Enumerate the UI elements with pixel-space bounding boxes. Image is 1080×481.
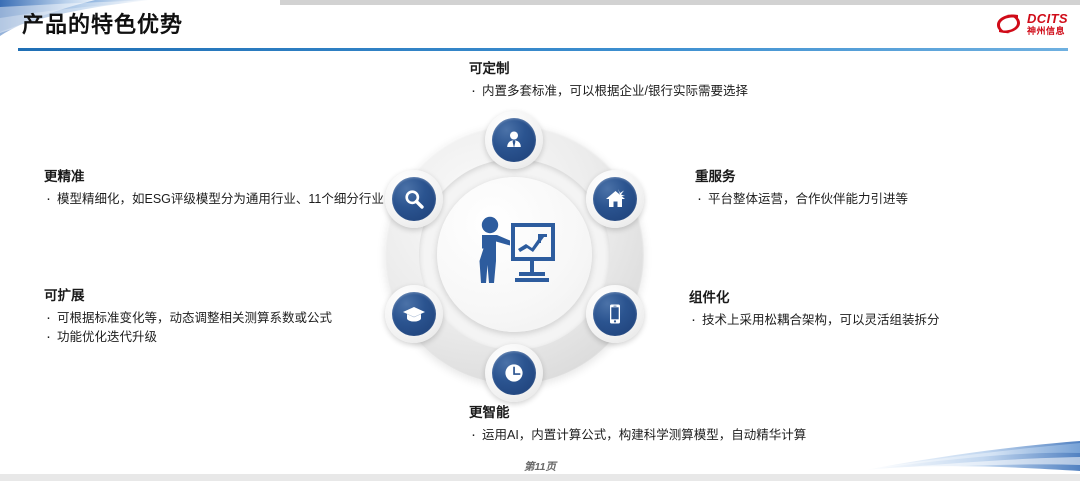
feature-bullet: 模型精细化，如ESG评级模型分为通用行业、11个细分行业: [44, 190, 384, 209]
node-bubble: [392, 292, 436, 336]
dcits-swirl-icon: [995, 12, 1022, 36]
diagram-node-mobile[interactable]: [586, 285, 644, 343]
footer-swoosh-svg: [865, 441, 1080, 475]
feature-bullet-list: 可根据标准变化等，动态调整相关测算系数或公式 功能优化迭代升级: [44, 309, 384, 347]
node-bubble: [492, 118, 536, 162]
graduation-cap-icon: [402, 304, 426, 324]
feature-bullet-list: 模型精细化，如ESG评级模型分为通用行业、11个细分行业: [44, 190, 384, 209]
page-title: 产品的特色优势: [22, 12, 183, 38]
node-bubble: [492, 351, 536, 395]
feature-bullet-list: 技术上采用松耦合架构，可以灵活组装拆分: [689, 311, 1029, 330]
diagram-node-search[interactable]: [385, 170, 443, 228]
house-icon: [604, 188, 627, 210]
presenter-chart-icon: [472, 213, 558, 296]
feature-bullet: 技术上采用松耦合架构，可以灵活组装拆分: [689, 311, 1029, 330]
feature-block-more-accurate: 更精准 模型精细化，如ESG评级模型分为通用行业、11个细分行业: [44, 168, 384, 209]
title-divider: [0, 46, 1080, 58]
slide-header: 产品的特色优势 DCITS 神州信息: [0, 0, 1080, 47]
feature-heading: 可定制: [469, 60, 889, 78]
brand-logo: DCITS 神州信息: [995, 9, 1068, 39]
feature-bullet: 功能优化迭代升级: [44, 328, 384, 347]
hub-and-spoke-diagram: [373, 113, 656, 396]
feature-heading: 可扩展: [44, 287, 384, 305]
diagram-node-clock[interactable]: [485, 344, 543, 402]
node-bubble: [392, 177, 436, 221]
dcits-swirl-svg: [995, 12, 1022, 36]
user-person-icon: [503, 129, 525, 151]
logo-wordmark: DCITS 神州信息: [1027, 12, 1068, 36]
magnifier-search-icon: [403, 188, 425, 210]
logo-text-cn: 神州信息: [1027, 27, 1068, 36]
feature-block-componentized: 组件化 技术上采用松耦合架构，可以灵活组装拆分: [689, 289, 1029, 330]
node-bubble: [593, 177, 637, 221]
slide-canvas: 产品的特色优势 DCITS 神州信息 可定制 内置多套标准，可以根据企业/银行实…: [0, 0, 1080, 481]
feature-block-service-focused: 重服务 平台整体运营，合作伙伴能力引进等: [695, 168, 1025, 209]
feature-block-customizable: 可定制 内置多套标准，可以根据企业/银行实际需要选择: [469, 60, 889, 101]
feature-heading: 更精准: [44, 168, 384, 186]
diagram-center-disc: [437, 177, 592, 332]
feature-bullet: 平台整体运营，合作伙伴能力引进等: [695, 190, 1025, 209]
feature-heading: 重服务: [695, 168, 1025, 186]
node-bubble: [593, 292, 637, 336]
diagram-node-user[interactable]: [485, 111, 543, 169]
title-divider-line: [18, 48, 1068, 51]
feature-heading: 组件化: [689, 289, 1029, 307]
feature-block-smarter: 更智能 运用AI，内置计算公式，构建科学测算模型，自动精华计算: [469, 404, 899, 445]
feature-bullet-list: 内置多套标准，可以根据企业/银行实际需要选择: [469, 82, 889, 101]
feature-heading: 更智能: [469, 404, 899, 422]
feature-bullet-list: 平台整体运营，合作伙伴能力引进等: [695, 190, 1025, 209]
feature-bullet: 可根据标准变化等，动态调整相关测算系数或公式: [44, 309, 384, 328]
mobile-phone-icon: [606, 303, 624, 325]
diagram-node-house[interactable]: [586, 170, 644, 228]
diagram-node-graduation[interactable]: [385, 285, 443, 343]
feature-bullet: 内置多套标准，可以根据企业/银行实际需要选择: [469, 82, 889, 101]
footer-bar: [0, 474, 1080, 481]
presenter-chart-svg: [472, 213, 558, 291]
header-grey-strip: [280, 0, 1080, 5]
footer-swoosh-decoration: [865, 441, 1080, 475]
clock-icon: [503, 362, 525, 384]
feature-bullet-list: 运用AI，内置计算公式，构建科学测算模型，自动精华计算: [469, 426, 899, 445]
feature-block-extensible: 可扩展 可根据标准变化等，动态调整相关测算系数或公式 功能优化迭代升级: [44, 287, 384, 347]
feature-bullet: 运用AI，内置计算公式，构建科学测算模型，自动精华计算: [469, 426, 899, 445]
logo-text-en: DCITS: [1027, 12, 1068, 25]
